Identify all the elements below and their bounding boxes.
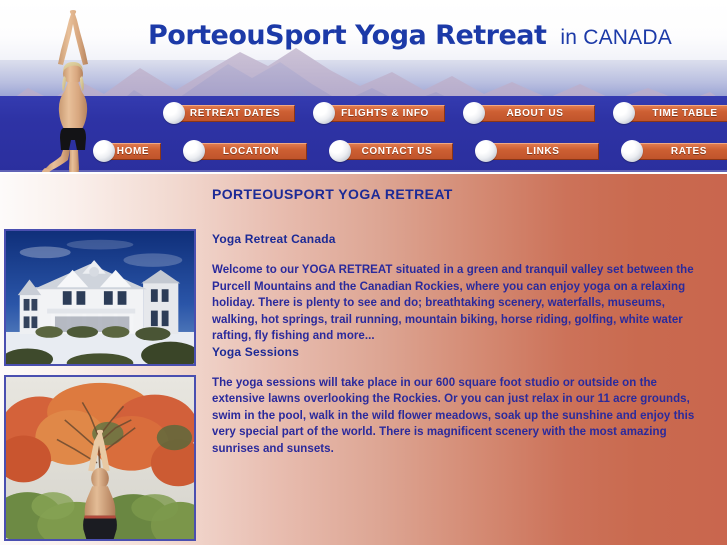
- nav-contact-us[interactable]: CONTACT US: [329, 140, 453, 162]
- site-banner: PorteouSport Yoga Retreat in CANADA: [0, 0, 727, 172]
- photo-yoga-autumn: [4, 375, 196, 541]
- nav-retreat-dates[interactable]: RETREAT DATES: [163, 102, 295, 124]
- page-title: PORTEOUSPORT YOGA RETREAT: [212, 186, 453, 202]
- site-title: PorteouSport Yoga Retreat in CANADA: [148, 20, 672, 51]
- nav-links-label: LINKS: [527, 146, 560, 157]
- nav-row-secondary: HOME LOCATION CONTACT US LINKS RATES: [93, 140, 727, 162]
- nav-bullet-sphere-icon: [183, 140, 205, 162]
- nav-links[interactable]: LINKS: [475, 140, 599, 162]
- section-heading: Yoga Retreat Canada: [212, 232, 698, 246]
- nav-about-us-label: ABOUT US: [506, 108, 563, 119]
- nav-bullet-sphere-icon: [313, 102, 335, 124]
- nav-location-label: LOCATION: [223, 146, 279, 157]
- nav-bullet-sphere-icon: [613, 102, 635, 124]
- nav-flights-info[interactable]: FLIGHTS & INFO: [313, 102, 445, 124]
- content-text-column: Yoga Retreat Canada Welcome to our YOGA …: [212, 232, 698, 457]
- nav-bullet-sphere-icon: [463, 102, 485, 124]
- site-title-sub: in CANADA: [560, 26, 672, 50]
- webpage-root: PorteouSport Yoga Retreat in CANADA: [0, 0, 727, 545]
- nav-time-table-label: TIME TABLE: [652, 108, 717, 119]
- photo-retreat-house: [4, 229, 196, 366]
- nav-rates[interactable]: RATES: [621, 140, 727, 162]
- nav-bullet-sphere-icon: [475, 140, 497, 162]
- main-content: PORTEOUSPORT YOGA RETREAT: [0, 172, 727, 545]
- nav-rates-label: RATES: [671, 146, 707, 157]
- section-yoga-retreat-canada: Yoga Retreat Canada Welcome to our YOGA …: [212, 232, 698, 345]
- nav-contact-us-label: CONTACT US: [362, 146, 433, 157]
- nav-row-primary: RETREAT DATES FLIGHTS & INFO ABOUT US TI…: [163, 102, 727, 124]
- site-title-main: PorteouSport Yoga Retreat: [148, 20, 546, 51]
- nav-location[interactable]: LOCATION: [183, 140, 307, 162]
- nav-bullet-sphere-icon: [163, 102, 185, 124]
- nav-about-us[interactable]: ABOUT US: [463, 102, 595, 124]
- nav-bullet-sphere-icon: [621, 140, 643, 162]
- nav-time-table[interactable]: TIME TABLE: [613, 102, 727, 124]
- nav-home[interactable]: HOME: [93, 140, 161, 162]
- section-paragraph: Welcome to our YOGA RETREAT situated in …: [212, 262, 698, 345]
- section-heading: Yoga Sessions: [212, 345, 698, 359]
- nav-flights-info-label: FLIGHTS & INFO: [341, 108, 429, 119]
- nav-home-label: HOME: [117, 146, 149, 157]
- nav-retreat-dates-label: RETREAT DATES: [190, 108, 280, 119]
- nav-bullet-sphere-icon: [93, 140, 115, 162]
- nav-bullet-sphere-icon: [329, 140, 351, 162]
- section-paragraph: The yoga sessions will take place in our…: [212, 375, 698, 458]
- section-yoga-sessions: Yoga Sessions The yoga sessions will tak…: [212, 345, 698, 458]
